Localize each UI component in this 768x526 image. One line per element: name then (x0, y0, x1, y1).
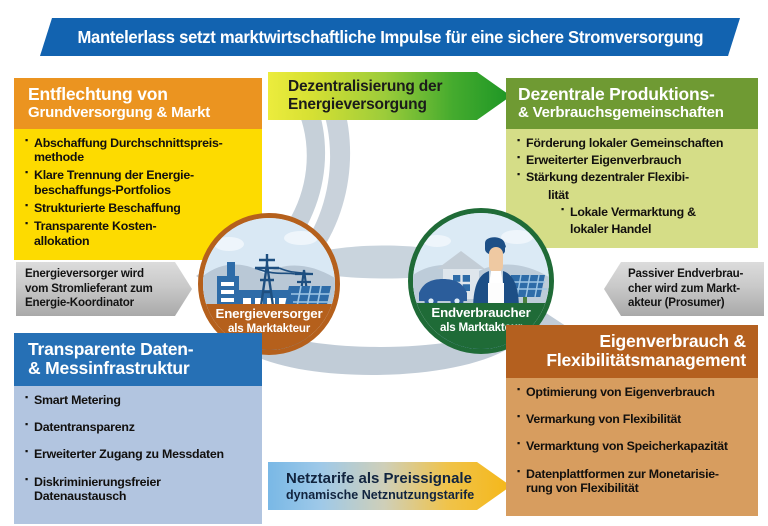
callout-right-line2: cher wird zum Markt- (628, 282, 764, 296)
card-transparente-header: Transparente Daten- & Messinfrastruktur (14, 333, 262, 386)
card-entflechtung-title-2: Grundversorgung & Markt (28, 104, 252, 121)
arrow-netztarife-line1: Netztarife als Preissignale (268, 470, 511, 488)
card-transparente-list: Smart Metering Datentransparenz Erweiter… (25, 393, 253, 504)
list-item: Lokale Vermarktung & (561, 205, 749, 219)
circle-endverbraucher-name: Endverbraucher (431, 306, 530, 321)
card-dezentrale-header: Dezentrale Produktions- & Verbrauchsgeme… (506, 78, 758, 129)
list-item: Diskriminierungsfreier Datenaustausch (25, 475, 253, 504)
card-eigenverbrauch[interactable]: Eigenverbrauch & Flexibilitätsmanagement… (506, 325, 758, 516)
arrow-netztarife-line2: dynamische Netznutzungstarife (268, 488, 511, 503)
list-item: Optimierung von Eigenverbrauch (517, 385, 749, 399)
card-transparente-title-1: Transparente Daten- (28, 340, 252, 359)
card-eigenverbrauch-title-1: Eigenverbrauch & (520, 332, 746, 351)
list-item: Erweiterter Zugang zu Messdaten (25, 447, 253, 461)
card-eigenverbrauch-header: Eigenverbrauch & Flexibilitätsmanagement (506, 325, 758, 378)
list-item: Abschaffung Durchschnittspreis- methode (25, 136, 253, 165)
arrow-dezentralisierung-line2: Energieversorgung (268, 96, 511, 114)
list-item: Förderung lokaler Gemeinschaften (517, 136, 749, 150)
list-item: lokaler Handel (561, 222, 749, 236)
card-dezentrale-title-1: Dezentrale Produktions- (518, 85, 748, 104)
circle-energieversorger-name: Energieversorger (216, 307, 323, 322)
list-item: Datentransparenz (25, 420, 253, 434)
callout-left-line1: Energieversorger wird (25, 267, 192, 281)
list-item: Vermarkung von Flexibilität (517, 412, 749, 426)
callout-right-line3: akteur (Prosumer) (628, 296, 764, 310)
list-item: Strukturierte Beschaffung (25, 201, 253, 215)
list-item: Klare Trennung der Energie- beschaffungs… (25, 168, 253, 197)
arrow-dezentralisierung-line1: Dezentralisierung der (268, 78, 511, 96)
arrow-netztarife[interactable]: Netztarife als Preissignale dynamische N… (268, 462, 511, 510)
list-item: lität (539, 188, 749, 202)
card-dezentrale-title-2: & Verbrauchsgemeinschaften (518, 104, 748, 121)
callout-endverbraucher-role: Passiver Endverbrau- cher wird zum Markt… (604, 262, 764, 316)
card-entflechtung-header: Entflechtung von Grundversorgung & Markt (14, 78, 262, 129)
card-transparente-title-2: & Messinfrastruktur (28, 359, 252, 378)
card-eigenverbrauch-list: Optimierung von Eigenverbrauch Vermarkun… (517, 385, 749, 496)
card-dezentrale-list: Förderung lokaler Gemeinschaften Erweite… (517, 136, 749, 237)
list-item: Datenplattformen zur Monetarisie- rung v… (517, 467, 749, 496)
list-item: Erweiterter Eigenverbrauch (517, 153, 749, 167)
card-entflechtung-title-1: Entflechtung von (28, 85, 252, 104)
card-eigenverbrauch-body: Optimierung von Eigenverbrauch Vermarkun… (506, 378, 758, 517)
list-item: Vermarktung von Speicherkapazität (517, 439, 749, 453)
callout-left-line2: vom Stromlieferant zum (25, 282, 192, 296)
arrow-dezentralisierung[interactable]: Dezentralisierung der Energieversorgung (268, 72, 511, 120)
callout-right-line1: Passiver Endverbrau- (628, 267, 764, 281)
infographic-canvas: Mantelerlass setzt marktwirtschaftliche … (0, 0, 768, 526)
card-transparente-daten[interactable]: Transparente Daten- & Messinfrastruktur … (14, 333, 262, 524)
callout-left-line3: Energie-Koordinator (25, 296, 192, 310)
card-transparente-body: Smart Metering Datentransparenz Erweiter… (14, 386, 262, 525)
card-eigenverbrauch-title-2: Flexibilitätsmanagement (520, 351, 746, 370)
callout-energieversorger-role: Energieversorger wird vom Stromlieferant… (16, 262, 192, 316)
list-item: Smart Metering (25, 393, 253, 407)
list-item: Stärkung dezentraler Flexibi- (517, 170, 749, 184)
